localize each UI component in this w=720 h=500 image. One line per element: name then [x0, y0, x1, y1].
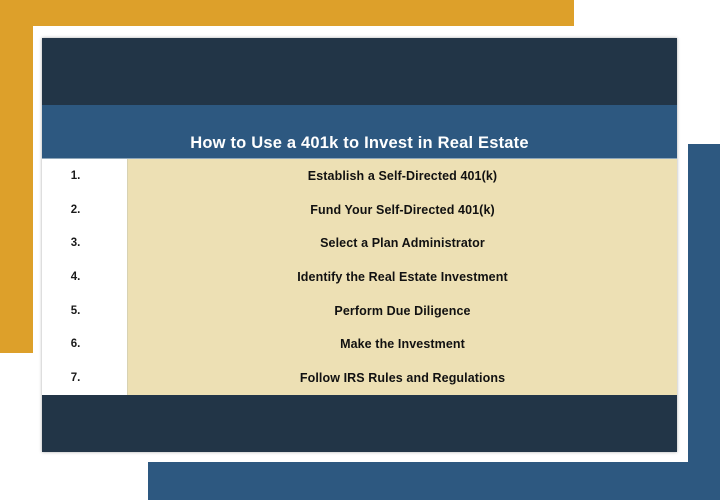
table-row-number: 1.: [42, 159, 127, 193]
table-row-label: Follow IRS Rules and Regulations: [128, 361, 677, 395]
card-top-band: [42, 38, 677, 105]
table-row-label: Fund Your Self-Directed 401(k): [128, 193, 677, 227]
page-title: How to Use a 401k to Invest in Real Esta…: [190, 135, 529, 159]
steps-table: 1. 2. 3. 4. 5. 6. 7. Establish a Self-Di…: [42, 158, 677, 395]
table-row-number: 3.: [42, 226, 127, 260]
table-row-number: 4.: [42, 260, 127, 294]
table-row-number: 2.: [42, 193, 127, 227]
infographic-card: How to Use a 401k to Invest in Real Esta…: [42, 38, 677, 452]
card-bottom-band: [42, 395, 677, 452]
decorative-blue-right-bar: [688, 144, 720, 500]
table-row-label: Select a Plan Administrator: [128, 226, 677, 260]
decorative-gold-top-bar: [0, 0, 574, 26]
table-row-label: Identify the Real Estate Investment: [128, 260, 677, 294]
steps-label-column: Establish a Self-Directed 401(k) Fund Yo…: [128, 159, 677, 395]
table-row-label: Make the Investment: [128, 328, 677, 362]
decorative-gold-left-bar: [0, 0, 33, 353]
table-row-label: Establish a Self-Directed 401(k): [128, 159, 677, 193]
steps-number-column: 1. 2. 3. 4. 5. 6. 7.: [42, 159, 128, 395]
decorative-blue-bottom-bar: [148, 462, 720, 500]
table-row-number: 5.: [42, 294, 127, 328]
infographic-canvas: How to Use a 401k to Invest in Real Esta…: [0, 0, 720, 500]
card-title-band: How to Use a 401k to Invest in Real Esta…: [42, 105, 677, 158]
table-row-label: Perform Due Diligence: [128, 294, 677, 328]
table-row-number: 7.: [42, 361, 127, 395]
table-row-number: 6.: [42, 328, 127, 362]
